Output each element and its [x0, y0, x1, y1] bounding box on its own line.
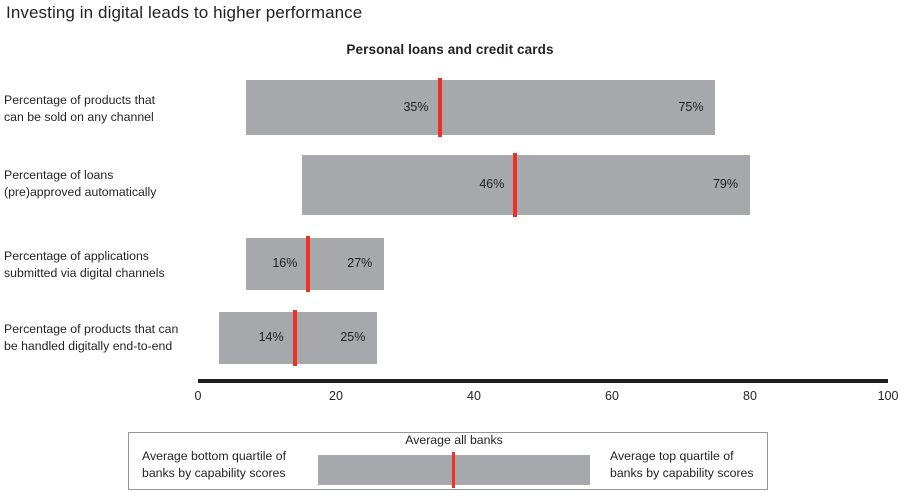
- category-label-4-line1: Percentage of products that can: [4, 321, 200, 338]
- x-axis-tick-100: 100: [868, 389, 900, 403]
- x-axis-tick-80: 80: [730, 389, 770, 403]
- chart-page: Investing in digital leads to higher per…: [0, 0, 900, 497]
- bar-4-marker-value: 14%: [250, 330, 284, 344]
- bar-3-end-value: 27%: [328, 256, 372, 270]
- bar-4-average-marker: [293, 310, 297, 366]
- bar-1-average-marker: [438, 78, 442, 137]
- legend-average-marker: [452, 452, 455, 488]
- bar-1: [246, 80, 715, 135]
- category-label-2-line1: Percentage of loans: [4, 167, 200, 184]
- bar-2: [302, 155, 751, 215]
- bar-4-end-value: 25%: [321, 330, 365, 344]
- bar-3-marker-value: 16%: [263, 256, 297, 270]
- bar-2-average-marker: [513, 153, 517, 217]
- category-label-1: Percentage of products that can be sold …: [4, 92, 200, 126]
- legend-top-quartile-line2: banks by capability scores: [610, 465, 790, 482]
- category-label-1-line2: can be sold on any channel: [4, 109, 200, 126]
- category-label-1-line1: Percentage of products that: [4, 92, 200, 109]
- x-axis-tick-60: 60: [592, 389, 632, 403]
- bar-2-end-value: 79%: [694, 177, 738, 191]
- legend-top-quartile-label: Average top quartile of banks by capabil…: [610, 448, 790, 482]
- category-label-4: Percentage of products that can be handl…: [4, 321, 200, 355]
- bar-1-marker-value: 35%: [395, 100, 429, 114]
- x-axis-tick-20: 20: [316, 389, 356, 403]
- x-axis-tick-0: 0: [178, 389, 218, 403]
- category-label-2-line2: (pre)approved automatically: [4, 184, 200, 201]
- plot-area: Percentage of products that can be sold …: [0, 0, 900, 497]
- x-axis-tick-40: 40: [454, 389, 494, 403]
- bar-1-end-value: 75%: [660, 100, 704, 114]
- category-label-3-line1: Percentage of applications: [4, 248, 200, 265]
- legend-top-quartile-line1: Average top quartile of: [610, 448, 790, 465]
- category-label-3: Percentage of applications submitted via…: [4, 248, 200, 282]
- category-label-4-line2: be handled digitally end-to-end: [4, 338, 200, 355]
- category-label-3-line2: submitted via digital channels: [4, 265, 200, 282]
- legend-average-all-banks-label: Average all banks: [318, 432, 590, 449]
- x-axis-line: [198, 379, 888, 383]
- category-label-2: Percentage of loans (pre)approved automa…: [4, 167, 200, 201]
- bar-3-average-marker: [306, 236, 310, 292]
- legend-bottom-quartile-line2: banks by capability scores: [142, 465, 317, 482]
- bar-2-marker-value: 46%: [470, 177, 504, 191]
- legend-bottom-quartile-line1: Average bottom quartile of: [142, 448, 317, 465]
- legend-bottom-quartile-label: Average bottom quartile of banks by capa…: [142, 448, 317, 482]
